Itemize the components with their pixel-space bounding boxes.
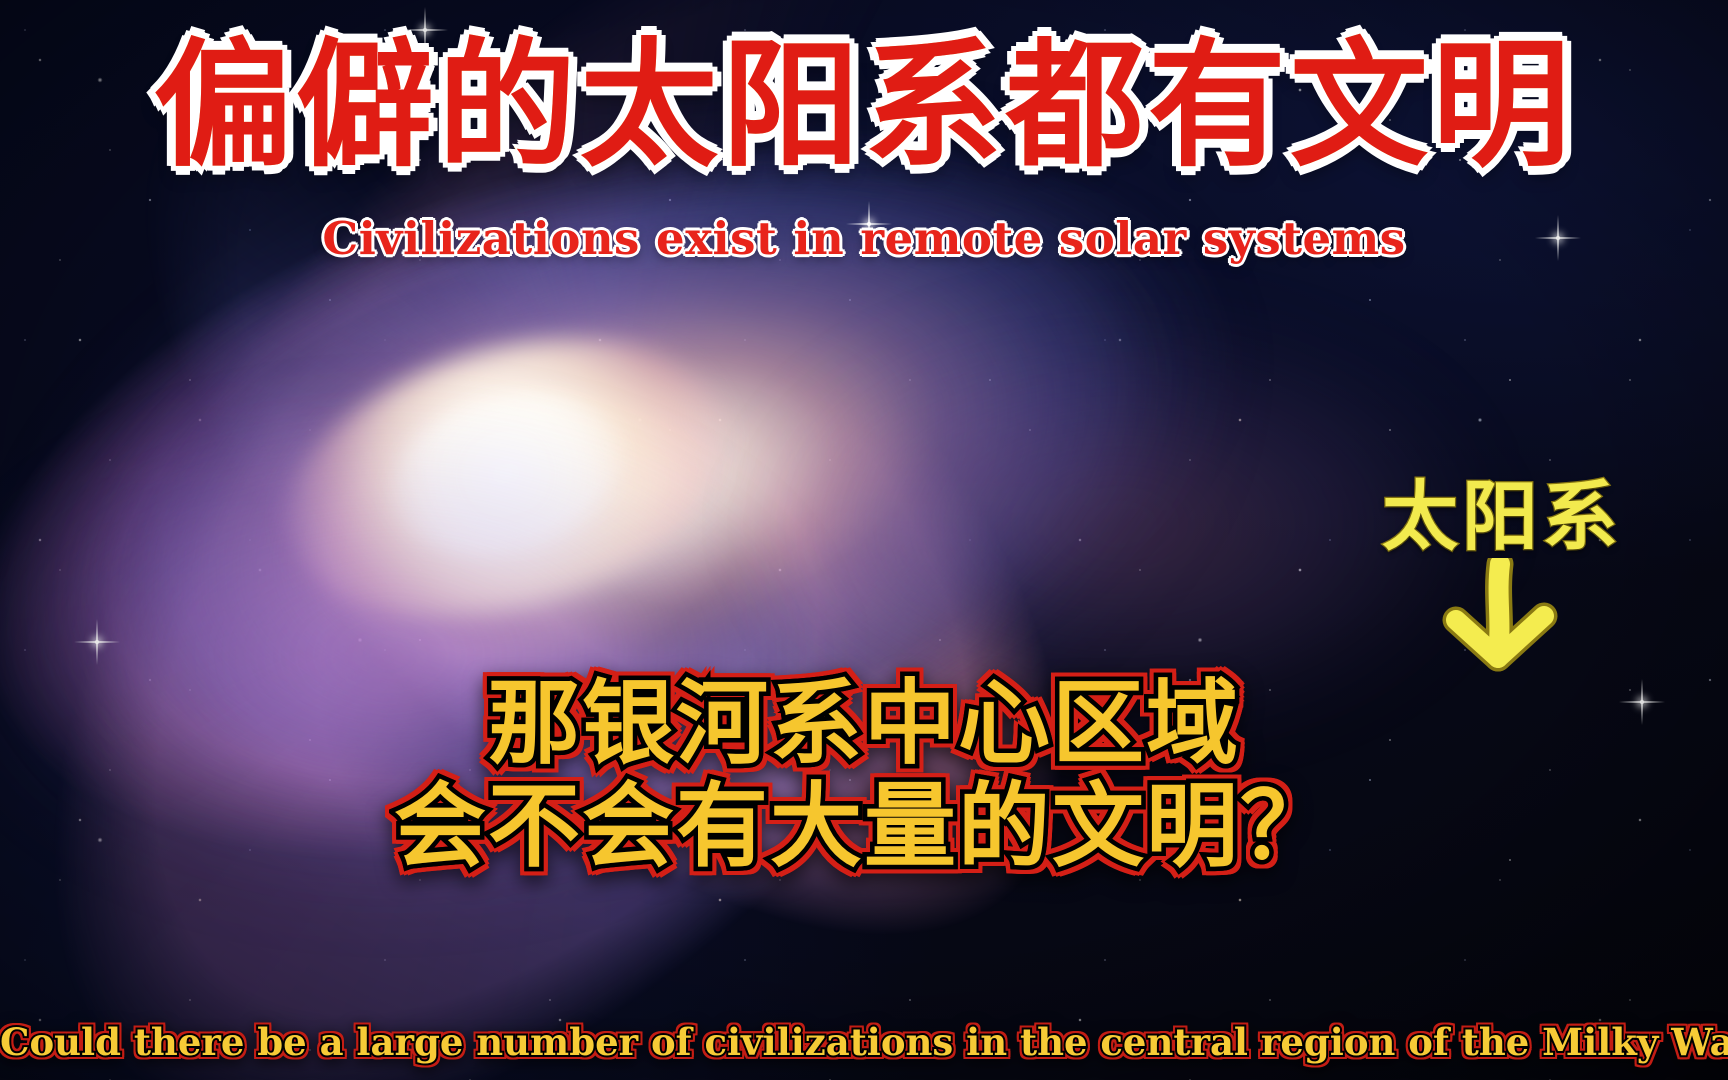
thumbnail-canvas: 偏僻的太阳系都有文明 Civilizations exist in remote… <box>0 0 1728 1080</box>
question-headline: 那银河系中心区域 会不会有大量的文明？ <box>0 672 1728 878</box>
main-title: 偏僻的太阳系都有文明 <box>0 36 1728 177</box>
sparkle-star-icon <box>95 640 99 644</box>
question-headline-line-1: 那银河系中心区域 <box>0 672 1728 775</box>
solar-system-annotation-label: 太阳系 <box>1382 455 1622 565</box>
question-headline-line-2: 会不会有大量的文明？ <box>0 775 1728 878</box>
down-arrow-icon <box>1440 558 1570 678</box>
bottom-caption: Could there be a large number of civiliz… <box>0 1020 1728 1064</box>
main-subtitle: Civilizations exist in remote solar syst… <box>0 212 1728 265</box>
